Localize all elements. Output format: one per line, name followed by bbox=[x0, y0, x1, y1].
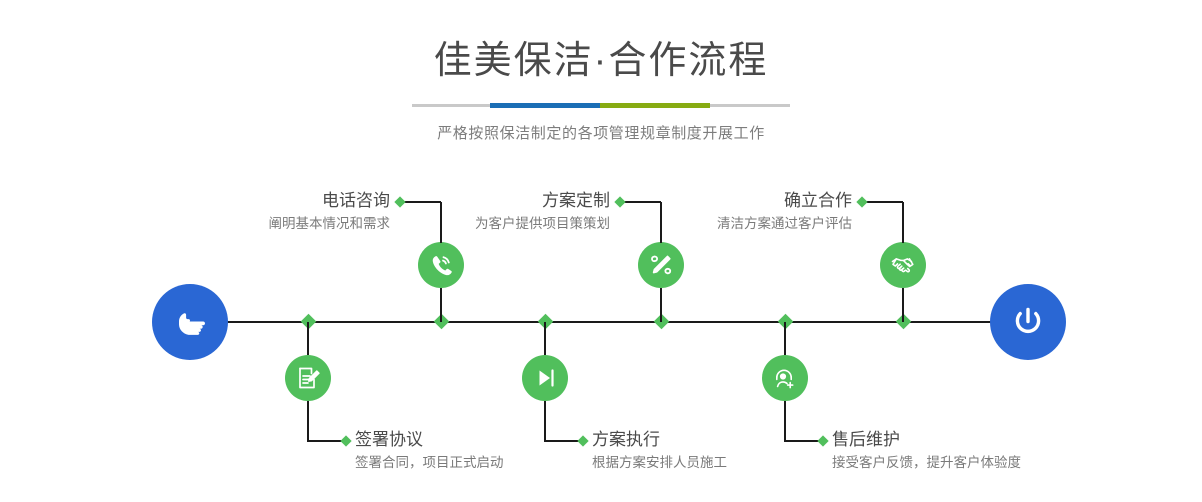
phone-call-icon bbox=[428, 252, 454, 278]
lead-1 bbox=[307, 440, 344, 442]
stem-1-lower bbox=[307, 401, 309, 441]
node-icon-3[interactable] bbox=[522, 355, 568, 401]
stem-2 bbox=[440, 288, 442, 322]
stem-6-upper bbox=[902, 202, 904, 243]
stem-3 bbox=[544, 322, 546, 355]
step-label-1: 签署协议 签署合同，项目正式启动 bbox=[355, 430, 504, 472]
pointing-hand-icon bbox=[170, 302, 210, 342]
step-title-2: 电话咨询 bbox=[140, 191, 390, 211]
step-label-6: 确立合作 清洁方案通过客户评估 bbox=[602, 191, 852, 233]
step-label-5: 售后维护 接受客户反馈，提升客户体验度 bbox=[832, 430, 1021, 472]
lead-3 bbox=[544, 440, 581, 442]
step-title-4: 方案定制 bbox=[360, 191, 610, 211]
step-title-1: 签署协议 bbox=[355, 430, 504, 450]
stem-5-lower bbox=[784, 401, 786, 441]
timeline: 签署协议 签署合同，项目正式启动 电话咨询 阐明基本情况和需求 bbox=[0, 0, 1202, 502]
step-title-5: 售后维护 bbox=[832, 430, 1021, 450]
label-marker-3 bbox=[577, 435, 588, 446]
timeline-start-endpoint bbox=[152, 284, 228, 360]
node-icon-4[interactable] bbox=[638, 242, 684, 288]
stem-5 bbox=[784, 322, 786, 355]
step-label-4: 方案定制 为客户提供项目策策划 bbox=[360, 191, 610, 233]
label-marker-6 bbox=[856, 196, 867, 207]
power-icon bbox=[1007, 301, 1049, 343]
play-execute-icon bbox=[532, 365, 558, 391]
step-title-3: 方案执行 bbox=[592, 430, 727, 450]
lead-6 bbox=[866, 201, 903, 203]
handshake-icon bbox=[890, 252, 916, 278]
document-edit-icon bbox=[295, 365, 321, 391]
step-label-2: 电话咨询 阐明基本情况和需求 bbox=[140, 191, 390, 233]
step-title-6: 确立合作 bbox=[602, 191, 852, 211]
step-desc-3: 根据方案安排人员施工 bbox=[592, 453, 727, 472]
pencil-design-icon bbox=[648, 252, 674, 278]
label-marker-1 bbox=[340, 435, 351, 446]
customer-service-icon bbox=[772, 365, 798, 391]
stem-6 bbox=[902, 288, 904, 322]
step-desc-4: 为客户提供项目策策划 bbox=[360, 214, 610, 233]
node-icon-5[interactable] bbox=[762, 355, 808, 401]
stem-3-lower bbox=[544, 401, 546, 441]
stem-4 bbox=[660, 288, 662, 322]
step-desc-2: 阐明基本情况和需求 bbox=[140, 214, 390, 233]
step-desc-6: 清洁方案通过客户评估 bbox=[602, 214, 852, 233]
timeline-end-endpoint bbox=[990, 284, 1066, 360]
node-icon-1[interactable] bbox=[285, 355, 331, 401]
node-icon-6[interactable] bbox=[880, 242, 926, 288]
lead-5 bbox=[784, 440, 821, 442]
step-desc-1: 签署合同，项目正式启动 bbox=[355, 453, 504, 472]
step-desc-5: 接受客户反馈，提升客户体验度 bbox=[832, 453, 1021, 472]
process-flow-page: 佳美保洁·合作流程 严格按照保洁制定的各项管理规章制度开展工作 bbox=[0, 0, 1202, 502]
node-icon-2[interactable] bbox=[418, 242, 464, 288]
stem-1 bbox=[307, 322, 309, 355]
label-marker-5 bbox=[817, 435, 828, 446]
step-label-3: 方案执行 根据方案安排人员施工 bbox=[592, 430, 727, 472]
